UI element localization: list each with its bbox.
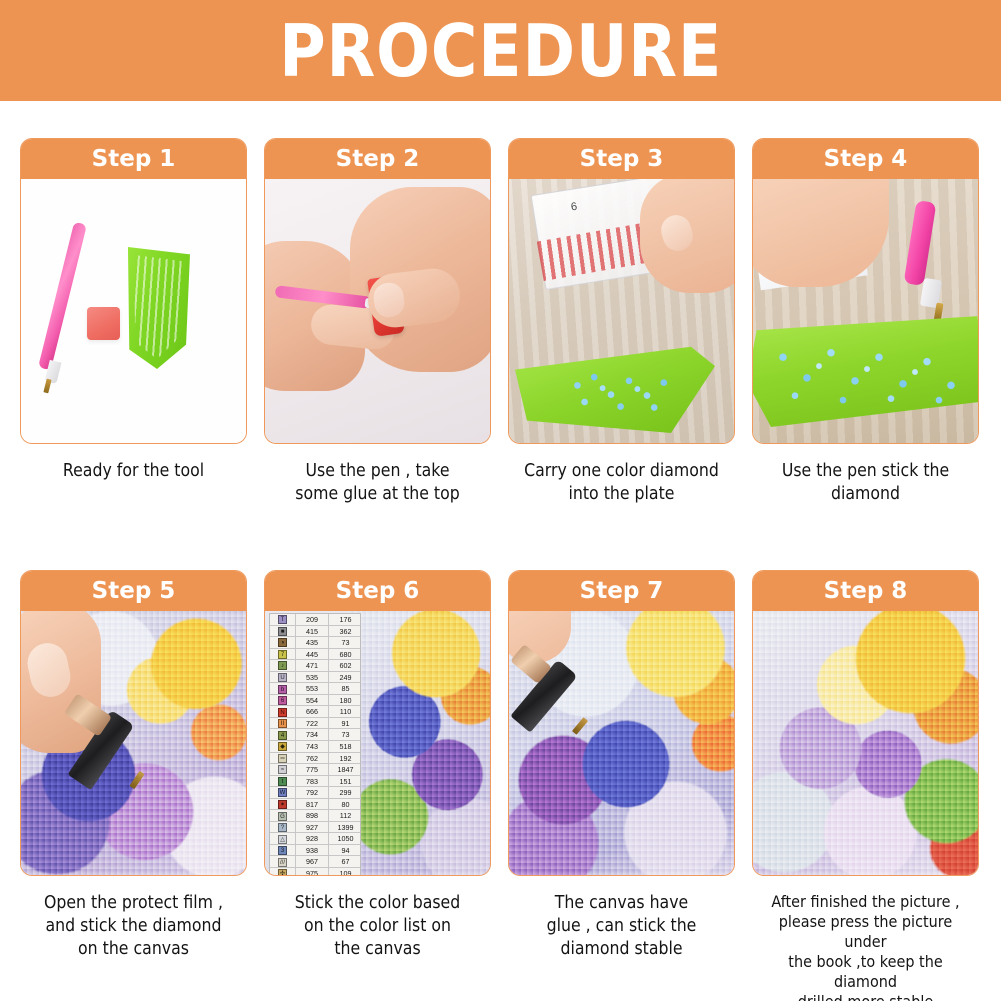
color-symbol-icon: T (278, 615, 287, 624)
color-symbol-icon: II (278, 719, 287, 728)
color-code: 743 (296, 741, 329, 753)
color-list-row: ✶81780 (270, 799, 360, 811)
color-swatch: 7 (270, 649, 296, 661)
color-list-row: 473473 (270, 729, 360, 741)
color-code: 898 (296, 810, 329, 822)
color-count: 602 (329, 660, 361, 672)
color-list-row: ♪471602 (270, 660, 360, 672)
color-code: 535 (296, 672, 329, 684)
step-5-photo (21, 611, 246, 875)
step-1-caption: Ready for the tool (31, 460, 235, 483)
color-count: 180 (329, 695, 361, 707)
step-6-header-label: Step 6 (336, 578, 420, 604)
color-symbol-icon: W (278, 788, 287, 797)
color-code: 967 (296, 856, 329, 868)
step-3-header: Step 3 (509, 139, 734, 179)
color-count: 73 (329, 637, 361, 649)
color-symbol-icon: ? (278, 823, 287, 832)
color-count: 91 (329, 718, 361, 730)
color-list-row: 7445680 (270, 649, 360, 661)
color-symbol-icon: ≈ (278, 765, 287, 774)
color-list-table: T209176■415362◑435737445680♪471602U53524… (269, 613, 361, 875)
step-5-caption: Open the protect film , and stick the di… (31, 892, 235, 961)
step-2-header-label: Step 2 (336, 146, 420, 172)
color-swatch: G (270, 810, 296, 822)
color-list-row: ═762192 (270, 753, 360, 765)
page-banner: PROCEDURE (0, 0, 1001, 101)
step-8-caption: After finished the picture , please pres… (763, 892, 967, 1001)
step-4-header-label: Step 4 (824, 146, 908, 172)
color-count: 73 (329, 729, 361, 741)
color-count: 249 (329, 672, 361, 684)
step-card-6-frame: Step 6 T209176■415362◑435737445680♪47160… (264, 570, 491, 876)
color-swatch: △ (270, 833, 296, 845)
step-card-1[interactable]: Step 1 Ready for the tool (20, 138, 247, 506)
step-3-header-label: Step 3 (580, 146, 664, 172)
step-7-caption: The canvas have glue , can stick the dia… (519, 892, 723, 961)
color-swatch: ═ (270, 753, 296, 765)
color-code: 938 (296, 845, 329, 857)
diamond-canvas-icon (348, 611, 490, 875)
color-code: 817 (296, 799, 329, 811)
blue-diamonds-icon (767, 335, 967, 409)
step-7-photo (509, 611, 734, 875)
color-symbol-icon: ◑ (278, 638, 287, 647)
glue-square-icon (87, 307, 120, 340)
step-card-3[interactable]: Step 3 6 Carry one color diamond into th… (508, 138, 735, 506)
step-card-8-frame: Step 8 (752, 570, 979, 876)
step-card-7[interactable]: Step 7 The canvas have glue , can stick … (508, 570, 735, 1001)
color-symbol-icon: b (278, 685, 287, 694)
step-8-header: Step 8 (753, 571, 978, 611)
step-1-header-label: Step 1 (92, 146, 176, 172)
step-card-1-frame: Step 1 (20, 138, 247, 444)
color-code: 734 (296, 729, 329, 741)
color-code: 553 (296, 683, 329, 695)
color-swatch: /// (270, 856, 296, 868)
color-code: 775 (296, 764, 329, 776)
color-code: 928 (296, 833, 329, 845)
color-code: 471 (296, 660, 329, 672)
color-code: 666 (296, 706, 329, 718)
step-5-header-label: Step 5 (92, 578, 176, 604)
color-symbol-icon: ═ (278, 754, 287, 763)
step-card-7-frame: Step 7 (508, 570, 735, 876)
color-count: 192 (329, 753, 361, 765)
color-count: 112 (329, 810, 361, 822)
color-list-row: G898112 (270, 810, 360, 822)
steps-row-2: Step 5 Open the protect film , and stick… (20, 570, 981, 1001)
color-list-row: N666110 (270, 706, 360, 718)
color-list-row: 393894 (270, 845, 360, 857)
color-list-row: ≈7751847 (270, 764, 360, 776)
step-3-caption: Carry one color diamond into the plate (519, 460, 723, 506)
step-card-2[interactable]: Step 2 Use the pen , take some glue at t… (264, 138, 491, 506)
color-code: 415 (296, 626, 329, 638)
step-4-header: Step 4 (753, 139, 978, 179)
step-2-caption: Use the pen , take some glue at the top (275, 460, 479, 506)
color-symbol-icon: t (278, 777, 287, 786)
color-count: 680 (329, 649, 361, 661)
color-symbol-icon: 3 (278, 846, 287, 855)
color-list-row: ?9271399 (270, 822, 360, 834)
color-count: 67 (329, 856, 361, 868)
step-card-2-frame: Step 2 (264, 138, 491, 444)
color-count: 80 (329, 799, 361, 811)
step-7-header-label: Step 7 (580, 578, 664, 604)
color-symbol-icon: 7 (278, 650, 287, 659)
color-code: 435 (296, 637, 329, 649)
color-count: 151 (329, 776, 361, 788)
color-swatch: II (270, 718, 296, 730)
color-swatch: 6 (270, 695, 296, 707)
step-card-3-frame: Step 3 6 (508, 138, 735, 444)
step-2-header: Step 2 (265, 139, 490, 179)
blue-diamonds-icon (563, 367, 683, 413)
step-7-header: Step 7 (509, 571, 734, 611)
step-6-header: Step 6 (265, 571, 490, 611)
step-8-photo (753, 611, 978, 875)
color-count: 109 (329, 868, 361, 875)
color-code: 975 (296, 868, 329, 875)
color-symbol-icon: ♪ (278, 661, 287, 670)
color-count: 518 (329, 741, 361, 753)
color-code: 722 (296, 718, 329, 730)
step-8-header-label: Step 8 (824, 578, 908, 604)
color-list-row: △9281050 (270, 833, 360, 845)
step-4-caption: Use the pen stick the diamond (763, 460, 967, 506)
color-list-row: t783151 (270, 776, 360, 788)
color-code: 445 (296, 649, 329, 661)
color-swatch: N (270, 706, 296, 718)
color-count: 1847 (329, 764, 361, 776)
step-1-header: Step 1 (21, 139, 246, 179)
step-6-caption: Stick the color based on the color list … (275, 892, 479, 961)
color-swatch: 3 (270, 845, 296, 857)
step-1-photo (21, 179, 246, 443)
color-list-row: ///96767 (270, 856, 360, 868)
step-card-4[interactable]: Step 4 Use the pen stick the diamond (752, 138, 979, 506)
color-code: 209 (296, 614, 329, 626)
step-card-8[interactable]: Step 8 After finished the picture , plea… (752, 570, 979, 1001)
color-count: 1399 (329, 822, 361, 834)
step-3-photo: 6 (509, 179, 734, 443)
color-count: 299 (329, 787, 361, 799)
color-list-row: ✣975109 (270, 868, 360, 875)
color-list-row: W792299 (270, 787, 360, 799)
step-card-6[interactable]: Step 6 T209176■415362◑435737445680♪47160… (264, 570, 491, 1001)
pen-nib-icon (43, 379, 51, 394)
color-swatch: W (270, 787, 296, 799)
color-swatch: T (270, 614, 296, 626)
color-list-row: U535249 (270, 672, 360, 684)
color-symbol-icon: N (278, 708, 287, 717)
color-list-row: T209176 (270, 614, 360, 626)
step-card-4-frame: Step 4 (752, 138, 979, 444)
color-swatch: ■ (270, 626, 296, 638)
color-symbol-icon: U (278, 673, 287, 682)
step-2-photo (265, 179, 490, 443)
color-list-row: b55385 (270, 683, 360, 695)
color-count: 85 (329, 683, 361, 695)
color-count: 362 (329, 626, 361, 638)
page-title: PROCEDURE (279, 15, 722, 87)
color-symbol-icon: ✣ (278, 869, 287, 875)
color-code: 783 (296, 776, 329, 788)
color-swatch: ≈ (270, 764, 296, 776)
color-symbol-icon: ◆ (278, 742, 287, 751)
color-swatch: 4 (270, 729, 296, 741)
step-card-5-frame: Step 5 (20, 570, 247, 876)
color-swatch: ◑ (270, 637, 296, 649)
color-symbol-icon: G (278, 812, 287, 821)
color-swatch: ◆ (270, 741, 296, 753)
pink-pen-icon (38, 222, 87, 371)
color-symbol-icon: △ (278, 835, 287, 844)
color-list-row: ◑43573 (270, 637, 360, 649)
color-code: 927 (296, 822, 329, 834)
color-swatch: ✶ (270, 799, 296, 811)
color-count: 176 (329, 614, 361, 626)
color-count: 1050 (329, 833, 361, 845)
color-swatch: ♪ (270, 660, 296, 672)
color-code: 792 (296, 787, 329, 799)
color-swatch: U (270, 672, 296, 684)
color-swatch: ? (270, 822, 296, 834)
color-symbol-icon: 6 (278, 696, 287, 705)
color-list-row: ■415362 (270, 626, 360, 638)
color-swatch: ✣ (270, 868, 296, 875)
color-symbol-icon: /// (278, 858, 287, 867)
color-swatch: b (270, 683, 296, 695)
step-6-photo: T209176■415362◑435737445680♪471602U53524… (265, 611, 490, 875)
finished-painting-icon (753, 611, 978, 875)
color-count: 94 (329, 845, 361, 857)
color-list-row: 6554180 (270, 695, 360, 707)
color-code: 554 (296, 695, 329, 707)
procedure-page: PROCEDURE Step 1 Ready for the tool (0, 0, 1001, 1001)
color-symbol-icon: ■ (278, 627, 287, 636)
color-list-row: ◆743518 (270, 741, 360, 753)
step-5-header: Step 5 (21, 571, 246, 611)
color-code: 762 (296, 753, 329, 765)
color-symbol-icon: ✶ (278, 800, 287, 809)
color-swatch: t (270, 776, 296, 788)
step-card-5[interactable]: Step 5 Open the protect film , and stick… (20, 570, 247, 1001)
step-4-photo (753, 179, 978, 443)
steps-row-1: Step 1 Ready for the tool Step 2 (20, 138, 981, 506)
color-symbol-icon: 4 (278, 731, 287, 740)
color-count: 110 (329, 706, 361, 718)
color-list-row: II72291 (270, 718, 360, 730)
